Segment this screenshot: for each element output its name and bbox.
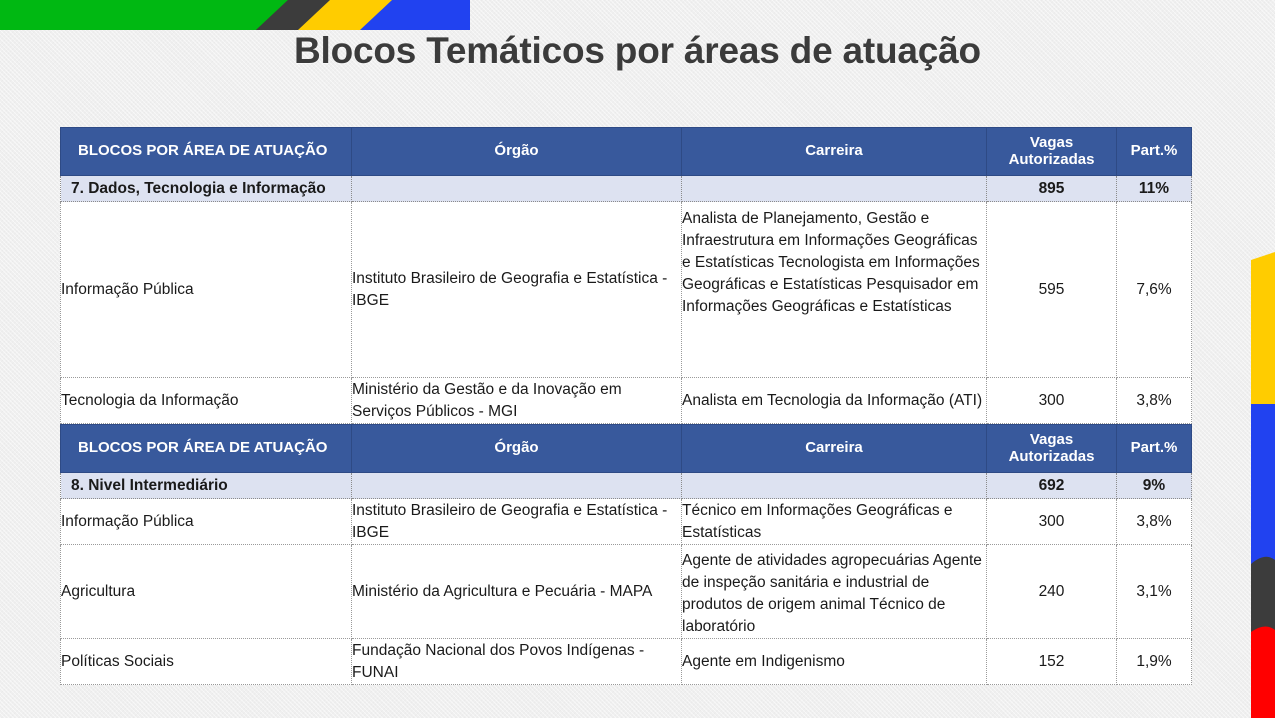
subtotal-orgao-7 <box>352 176 682 202</box>
header-part-percent: Part.% <box>1117 425 1192 473</box>
cell-vagas: 300 <box>987 499 1117 545</box>
table-block-8: BLOCOS POR ÁREA DE ATUAÇÃO Órgão Carreir… <box>60 424 1192 685</box>
table-row: Agricultura Ministério da Agricultura e … <box>61 545 1192 639</box>
cell-carreira: Agente de atividades agropecuárias Agent… <box>682 545 987 639</box>
cell-carreira: Técnico em Informações Geográficas e Est… <box>682 499 987 545</box>
subtotal-label-7: 7. Dados, Tecnologia e Informação <box>61 176 352 202</box>
cell-orgao: Instituto Brasileiro de Geografia e Esta… <box>352 202 682 378</box>
cell-bloco: Políticas Sociais <box>61 639 352 685</box>
header-vagas-line2: Autorizadas <box>993 152 1110 169</box>
cell-part: 7,6% <box>1117 202 1192 378</box>
cell-part: 3,8% <box>1117 499 1192 545</box>
cell-orgao: Fundação Nacional dos Povos Indígenas - … <box>352 639 682 685</box>
cell-part: 1,9% <box>1117 639 1192 685</box>
cell-bloco: Informação Pública <box>61 202 352 378</box>
cell-orgao: Instituto Brasileiro de Geografia e Esta… <box>352 499 682 545</box>
table-block-7: BLOCOS POR ÁREA DE ATUAÇÃO Órgão Carreir… <box>60 127 1192 424</box>
table-row: Tecnologia da Informação Ministério da G… <box>61 378 1192 424</box>
cell-bloco: Informação Pública <box>61 499 352 545</box>
cell-orgao: Ministério da Agricultura e Pecuária - M… <box>352 545 682 639</box>
table-header-row-8: BLOCOS POR ÁREA DE ATUAÇÃO Órgão Carreir… <box>61 425 1192 473</box>
header-orgao: Órgão <box>352 128 682 176</box>
subtotal-part-7: 11% <box>1117 176 1192 202</box>
cell-carreira: Analista de Planejamento, Gestão e Infra… <box>682 202 987 378</box>
header-orgao: Órgão <box>352 425 682 473</box>
header-blocos: BLOCOS POR ÁREA DE ATUAÇÃO <box>61 128 352 176</box>
subtotal-row-7: 7. Dados, Tecnologia e Informação 895 11… <box>61 176 1192 202</box>
table-row: Informação Pública Instituto Brasileiro … <box>61 499 1192 545</box>
cell-bloco: Tecnologia da Informação <box>61 378 352 424</box>
stripe-red <box>1251 632 1275 718</box>
cell-vagas: 152 <box>987 639 1117 685</box>
cell-vagas: 300 <box>987 378 1117 424</box>
deco-green <box>0 0 288 30</box>
stripe-yellow <box>1251 252 1275 404</box>
header-carreira: Carreira <box>682 425 987 473</box>
cell-bloco: Agricultura <box>61 545 352 639</box>
subtotal-vagas-8: 692 <box>987 473 1117 499</box>
page-title: Blocos Temáticos por áreas de atuação <box>0 30 1275 72</box>
header-vagas-autorizadas: Vagas Autorizadas <box>987 425 1117 473</box>
cell-carreira: Analista em Tecnologia da Informação (AT… <box>682 378 987 424</box>
stripe-blue <box>1251 404 1275 564</box>
header-vagas-line1: Vagas <box>993 432 1110 449</box>
cell-orgao: Ministério da Gestão e da Inovação em Se… <box>352 378 682 424</box>
cell-carreira: Agente em Indigenismo <box>682 639 987 685</box>
cell-vagas: 595 <box>987 202 1117 378</box>
tables-container: BLOCOS POR ÁREA DE ATUAÇÃO Órgão Carreir… <box>60 127 1191 685</box>
table-row: Políticas Sociais Fundação Nacional dos … <box>61 639 1192 685</box>
top-ribbon-overlay <box>0 0 470 30</box>
header-carreira: Carreira <box>682 128 987 176</box>
table-row: Informação Pública Instituto Brasileiro … <box>61 202 1192 378</box>
cell-part: 3,8% <box>1117 378 1192 424</box>
cell-vagas: 240 <box>987 545 1117 639</box>
table-header-row-7: BLOCOS POR ÁREA DE ATUAÇÃO Órgão Carreir… <box>61 128 1192 176</box>
subtotal-part-8: 9% <box>1117 473 1192 499</box>
subtotal-label-8: 8. Nivel Intermediário <box>61 473 352 499</box>
right-stripe-decoration <box>1235 252 1275 718</box>
header-blocos: BLOCOS POR ÁREA DE ATUAÇÃO <box>61 425 352 473</box>
stripe-dark <box>1251 564 1275 632</box>
header-vagas-autorizadas: Vagas Autorizadas <box>987 128 1117 176</box>
subtotal-carreira-7 <box>682 176 987 202</box>
header-vagas-line1: Vagas <box>993 135 1110 152</box>
header-part-percent: Part.% <box>1117 128 1192 176</box>
header-vagas-line2: Autorizadas <box>993 449 1110 466</box>
subtotal-vagas-7: 895 <box>987 176 1117 202</box>
subtotal-orgao-8 <box>352 473 682 499</box>
subtotal-row-8: 8. Nivel Intermediário 692 9% <box>61 473 1192 499</box>
subtotal-carreira-8 <box>682 473 987 499</box>
cell-part: 3,1% <box>1117 545 1192 639</box>
